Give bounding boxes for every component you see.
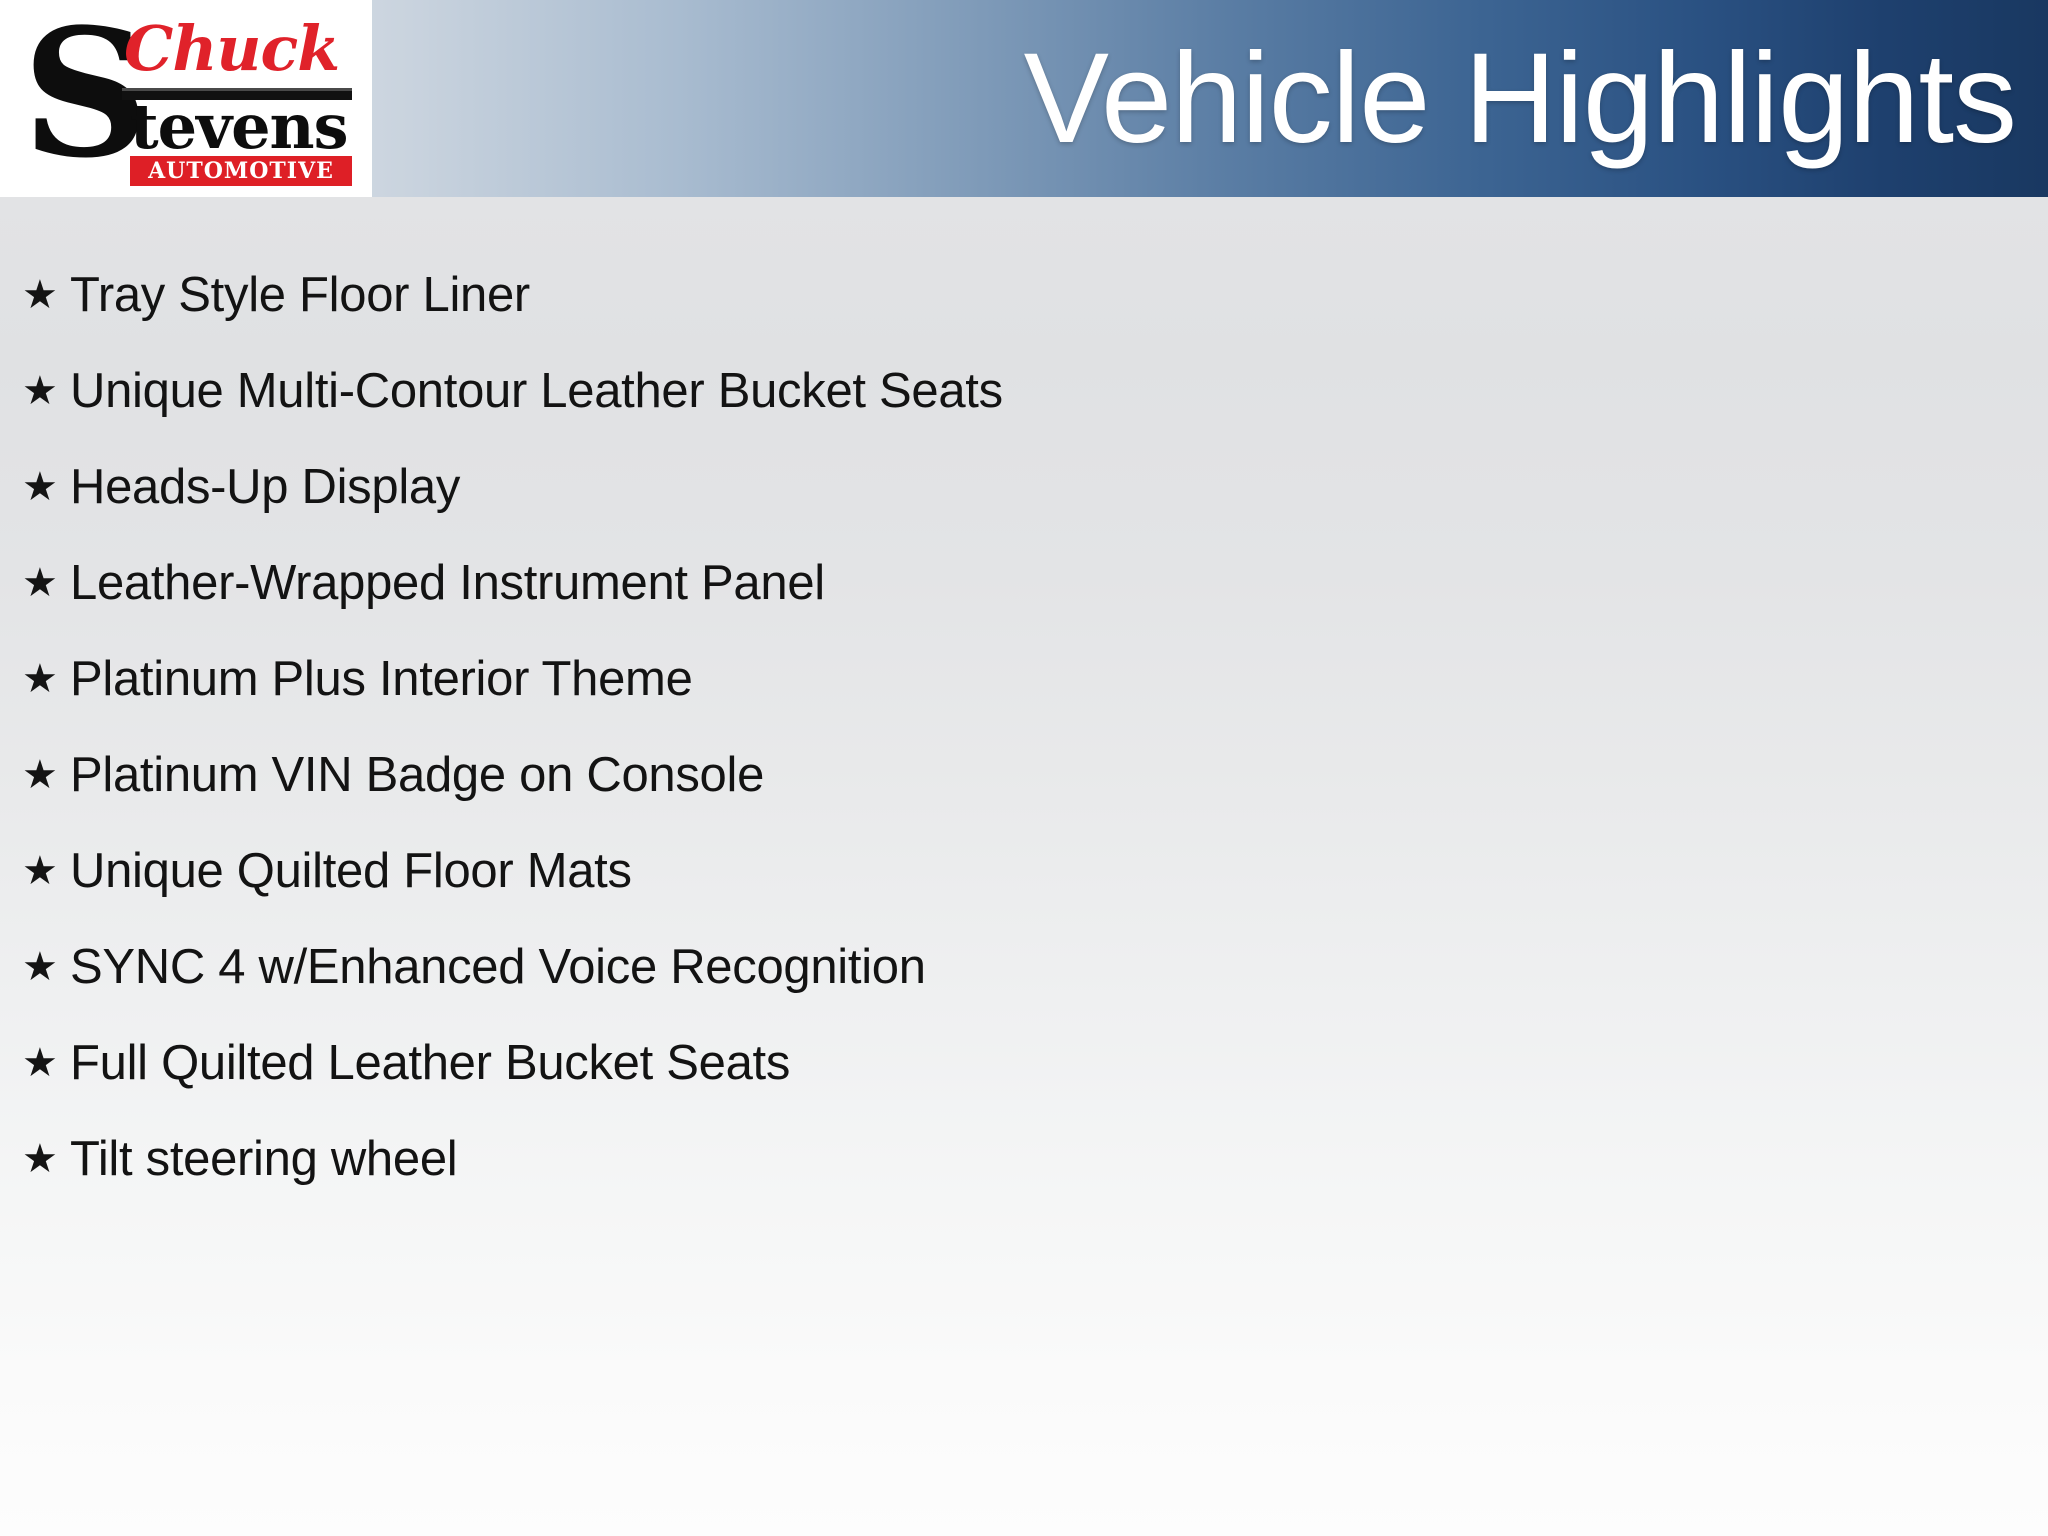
feature-label: Platinum Plus Interior Theme <box>70 649 693 709</box>
feature-label: Leather-Wrapped Instrument Panel <box>70 553 825 613</box>
list-item: ★SYNC 4 w/Enhanced Voice Recognition <box>0 919 2048 1015</box>
feature-label: Unique Quilted Floor Mats <box>70 841 632 901</box>
feature-label: Unique Multi-Contour Leather Bucket Seat… <box>70 361 1003 421</box>
page-header: S Chuck tevens AUTOMOTIVE Vehicle Highli… <box>0 0 2048 197</box>
star-bullet-icon: ★ <box>22 944 68 990</box>
list-item: ★Tray Style Floor Liner <box>0 247 2048 343</box>
star-bullet-icon: ★ <box>22 656 68 702</box>
list-item: ★Heads-Up Display <box>0 439 2048 535</box>
feature-label: Tray Style Floor Liner <box>70 265 530 325</box>
list-item: ★Platinum VIN Badge on Console <box>0 727 2048 823</box>
logo-panel: S Chuck tevens AUTOMOTIVE <box>0 0 372 197</box>
feature-label: Heads-Up Display <box>70 457 460 517</box>
feature-label: Platinum VIN Badge on Console <box>70 745 764 805</box>
star-bullet-icon: ★ <box>22 752 68 798</box>
star-bullet-icon: ★ <box>22 368 68 414</box>
page-title: Vehicle Highlights <box>1024 24 2016 174</box>
list-item: ★Full Quilted Leather Bucket Seats <box>0 1015 2048 1111</box>
list-item: ★Leather-Wrapped Instrument Panel <box>0 535 2048 631</box>
star-bullet-icon: ★ <box>22 848 68 894</box>
logo-tagline-text: AUTOMOTIVE <box>130 156 352 186</box>
dealer-logo: S Chuck tevens AUTOMOTIVE <box>22 10 362 188</box>
logo-tagline-bar: AUTOMOTIVE <box>130 156 352 186</box>
star-bullet-icon: ★ <box>22 272 68 318</box>
feature-label: SYNC 4 w/Enhanced Voice Recognition <box>70 937 926 997</box>
vehicle-highlights-page: S Chuck tevens AUTOMOTIVE Vehicle Highli… <box>0 0 2048 1536</box>
star-bullet-icon: ★ <box>22 1040 68 1086</box>
logo-brand-second: tevens <box>130 96 348 158</box>
star-bullet-icon: ★ <box>22 1136 68 1182</box>
list-item: ★Unique Multi-Contour Leather Bucket Sea… <box>0 343 2048 439</box>
vehicle-highlights-list: ★Tray Style Floor Liner★Unique Multi-Con… <box>0 247 2048 1207</box>
star-bullet-icon: ★ <box>22 464 68 510</box>
feature-label: Full Quilted Leather Bucket Seats <box>70 1033 790 1093</box>
logo-brand-first: Chuck <box>124 18 339 80</box>
star-bullet-icon: ★ <box>22 560 68 606</box>
list-item: ★Unique Quilted Floor Mats <box>0 823 2048 919</box>
content-area: ★Tray Style Floor Liner★Unique Multi-Con… <box>0 197 2048 1536</box>
list-item: ★Tilt steering wheel <box>0 1111 2048 1207</box>
list-item: ★Platinum Plus Interior Theme <box>0 631 2048 727</box>
feature-label: Tilt steering wheel <box>70 1129 457 1189</box>
